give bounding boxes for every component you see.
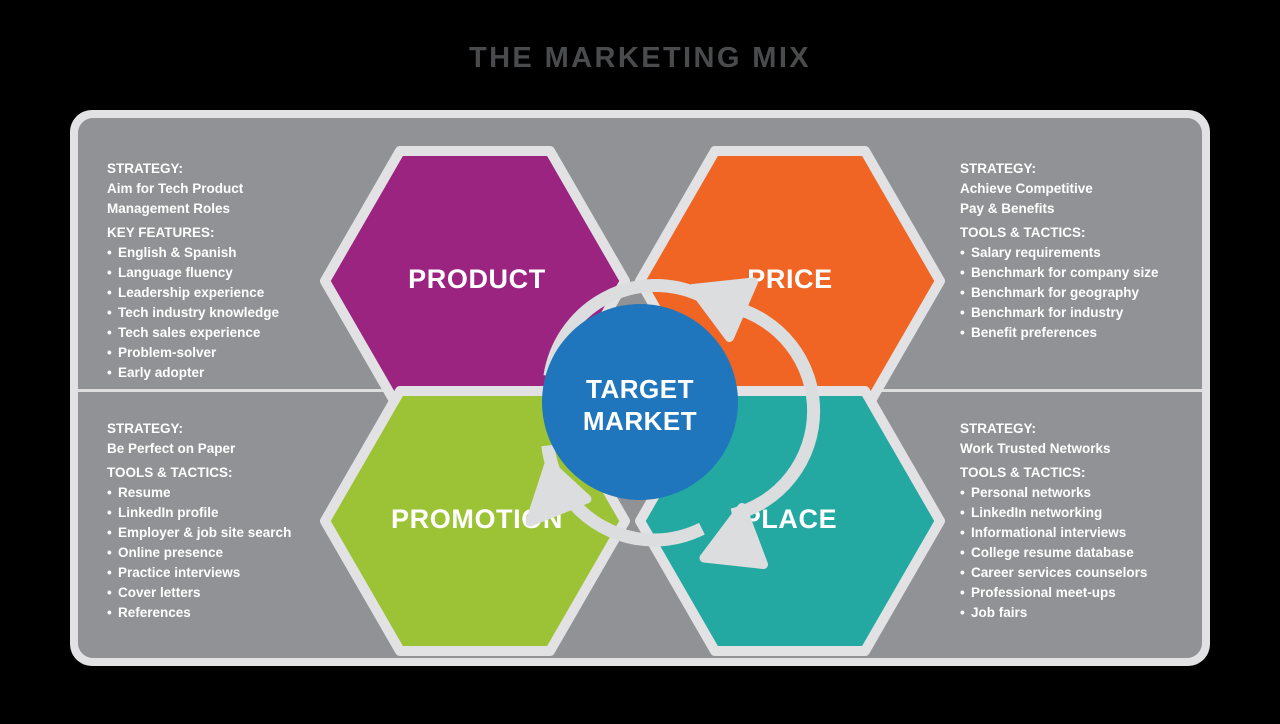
hexagon-price-label: PRICE	[747, 264, 833, 294]
hexagon-product-label: PRODUCT	[408, 264, 546, 294]
page-title: THE MARKETING MIX	[0, 42, 1280, 75]
marketing-mix-infographic: THE MARKETING MIX STRATEGY: Aim for Tech…	[0, 0, 1280, 724]
target-market-circle[interactable]: TARGET MARKET	[542, 304, 738, 500]
center-label-line-1: TARGET	[586, 374, 694, 404]
hexagon-cluster: PRODUCT PRICE PROMOTION PLACE	[70, 110, 1210, 666]
center-label-line-2: MARKET	[583, 406, 697, 436]
